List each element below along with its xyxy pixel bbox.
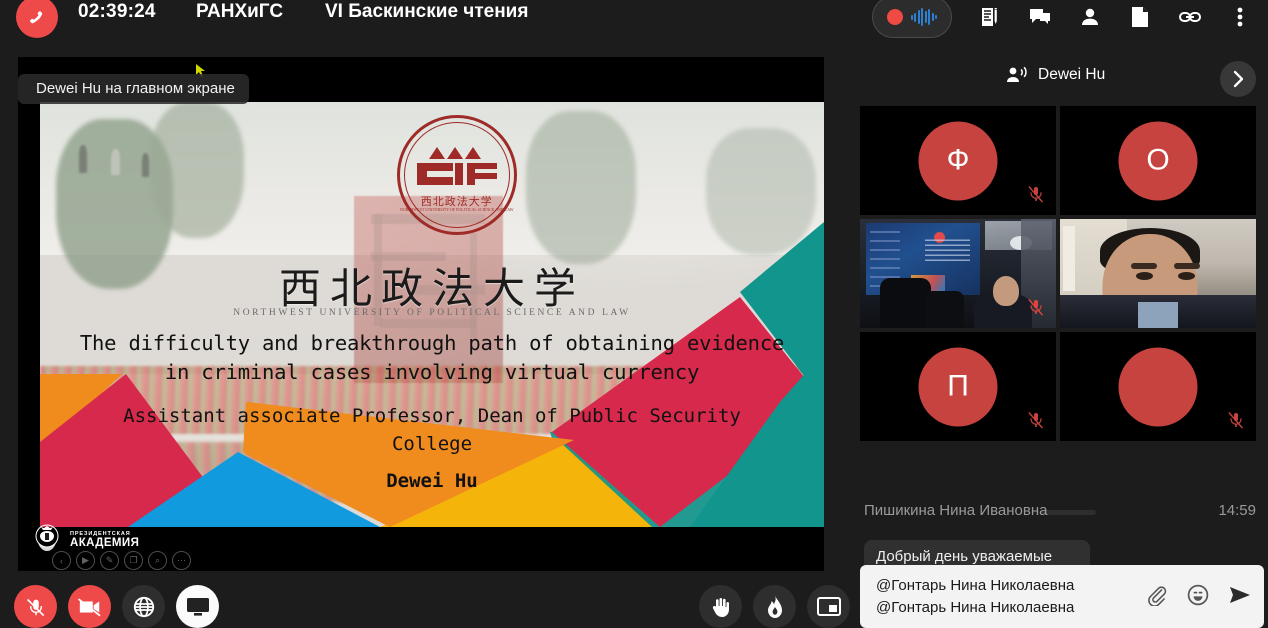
more-vertical-icon[interactable] bbox=[1215, 0, 1265, 37]
participant-tile-dewei-hu[interactable] bbox=[1060, 219, 1256, 328]
reactions-button[interactable] bbox=[753, 585, 796, 628]
language-button[interactable] bbox=[122, 585, 165, 628]
emoji-icon[interactable] bbox=[1186, 583, 1210, 607]
video-conference-app: 02:39:24 РАНХиГС VI Баскинские чтения bbox=[0, 0, 1268, 628]
slide-geometry bbox=[40, 102, 824, 527]
zoom-icon[interactable]: ⌕ bbox=[148, 551, 167, 570]
slide-title: The difficulty and breakthrough path of … bbox=[71, 329, 792, 387]
participant-tile-o[interactable]: О bbox=[1060, 106, 1256, 215]
chat-input-line2: @Гонтарь Нина Николаевна bbox=[876, 597, 1074, 619]
link-icon[interactable] bbox=[1165, 0, 1215, 37]
attach-icon[interactable] bbox=[1146, 584, 1168, 606]
flame-icon bbox=[765, 595, 785, 619]
meeting-timer: 02:39:24 bbox=[78, 1, 156, 23]
tile-row: Ф О bbox=[860, 106, 1264, 215]
next-speaker-button[interactable] bbox=[1220, 61, 1256, 97]
participant-grid: Ф О bbox=[860, 106, 1264, 445]
speaking-person-icon bbox=[1006, 66, 1028, 84]
chat-input[interactable]: @Гонтарь Нина Николаевна @Гонтарь Нина Н… bbox=[876, 575, 1074, 619]
active-speaker-name: Dewei Hu bbox=[1038, 66, 1105, 84]
mic-off-icon bbox=[1028, 298, 1044, 318]
more-icon[interactable]: ⋯ bbox=[172, 551, 191, 570]
bottom-toolbar bbox=[0, 578, 856, 628]
main-stage[interactable]: 西北政法大学 NORTHWEST UNIVERSITY OF POLITICAL… bbox=[18, 57, 824, 571]
hangup-button[interactable] bbox=[16, 0, 58, 38]
mic-off-icon bbox=[25, 596, 47, 618]
video-off-icon bbox=[78, 596, 102, 618]
video-feed bbox=[1060, 219, 1256, 328]
mic-off-icon bbox=[1228, 411, 1244, 431]
slide-subtitle: Assistant associate Professor, Dean of P… bbox=[87, 402, 777, 458]
chat-message-time: 14:59 bbox=[1218, 502, 1256, 519]
video-feed bbox=[860, 219, 1056, 328]
organization-name: РАНХиГС bbox=[196, 1, 283, 23]
monitor-icon bbox=[185, 596, 211, 618]
document-icon[interactable] bbox=[1115, 0, 1165, 37]
participant-tile-p[interactable]: П bbox=[860, 332, 1056, 441]
send-icon[interactable] bbox=[1228, 584, 1252, 606]
camera-muted-button[interactable] bbox=[68, 585, 111, 628]
top-bar-actions bbox=[965, 0, 1265, 37]
audio-waveform-icon bbox=[911, 8, 938, 26]
avatar bbox=[1119, 347, 1198, 426]
chat-input-line1: @Гонтарь Нина Николаевна bbox=[876, 575, 1074, 597]
hand-icon bbox=[709, 595, 733, 619]
picture-in-picture-button[interactable] bbox=[807, 585, 850, 628]
raise-hand-button[interactable] bbox=[699, 585, 742, 628]
top-bar: 02:39:24 РАНХиГС VI Баскинские чтения bbox=[0, 0, 1268, 44]
screen-share-button[interactable] bbox=[176, 585, 219, 628]
participant-tile-room[interactable] bbox=[860, 219, 1056, 328]
academy-logo-line2: АКАДЕМИЯ bbox=[70, 537, 139, 549]
pinned-speaker-label: Dewei Hu на главном экране bbox=[18, 74, 249, 104]
phone-hangup-icon bbox=[26, 6, 48, 28]
composer-actions bbox=[1146, 583, 1252, 607]
microphone-muted-button[interactable] bbox=[14, 585, 57, 628]
notes-icon[interactable] bbox=[965, 0, 1015, 37]
globe-icon bbox=[132, 595, 156, 619]
recording-indicator[interactable] bbox=[872, 0, 952, 38]
double-headed-eagle-icon bbox=[32, 523, 62, 557]
avatar: П bbox=[919, 347, 998, 426]
avatar: О bbox=[1119, 121, 1198, 200]
record-dot-icon bbox=[887, 9, 903, 25]
participant-tile-blank[interactable] bbox=[1060, 332, 1256, 441]
tile-row bbox=[860, 219, 1264, 328]
pip-icon bbox=[816, 596, 842, 617]
chat-composer[interactable]: @Гонтарь Нина Николаевна @Гонтарь Нина Н… bbox=[860, 565, 1264, 628]
mic-off-icon bbox=[1028, 185, 1044, 205]
active-speaker-row: Dewei Hu bbox=[856, 58, 1268, 100]
meeting-title: VI Баскинские чтения bbox=[325, 1, 528, 23]
chat-icon[interactable] bbox=[1015, 0, 1065, 37]
chat-message-author: Пишикина Нина Ивановна bbox=[864, 502, 1047, 519]
avatar: Ф bbox=[919, 121, 998, 200]
active-speaker-chip: Dewei Hu bbox=[1006, 66, 1105, 84]
slide-author: Dewei Hu bbox=[40, 470, 824, 492]
participant-tile-f[interactable]: Ф bbox=[860, 106, 1056, 215]
academy-logo: ПРЕЗИДЕНТСКАЯ АКАДЕМИЯ bbox=[32, 523, 139, 557]
mic-off-icon bbox=[1028, 411, 1044, 431]
tile-row: П bbox=[860, 332, 1264, 441]
participants-icon[interactable] bbox=[1065, 0, 1115, 37]
shared-slide: 西北政法大学 NORTHWEST UNIVERSITY OF POLITICAL… bbox=[40, 102, 824, 527]
chevron-right-icon bbox=[1231, 70, 1246, 88]
